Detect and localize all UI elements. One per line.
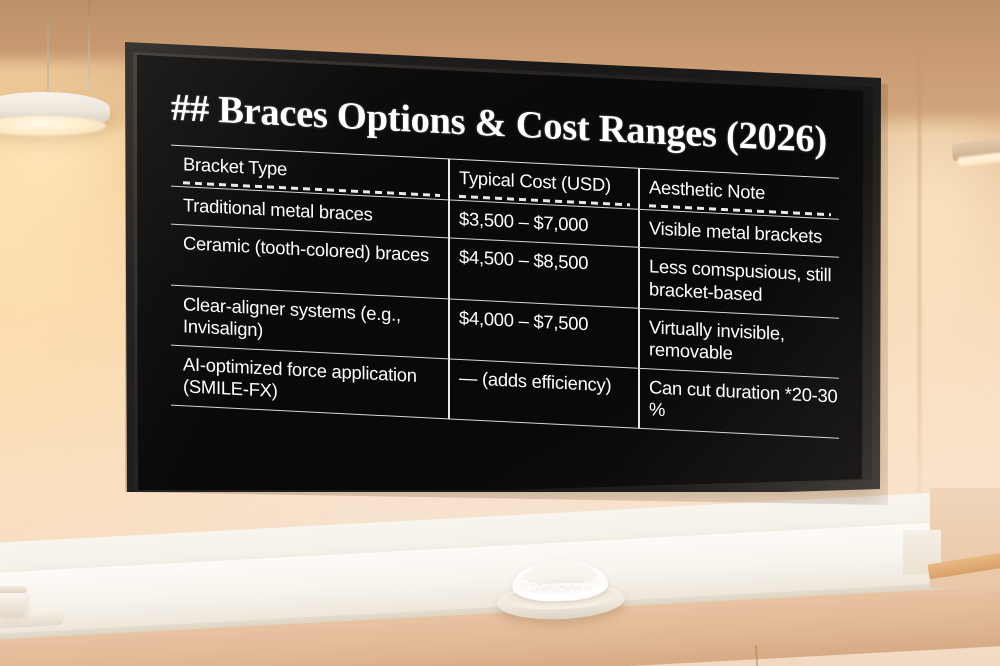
cell-typical-cost: $4,000 – $7,500 bbox=[449, 299, 639, 369]
small-jar bbox=[0, 590, 26, 614]
braces-options-table: Bracket Type Typical Cost (USD) Aestheti… bbox=[171, 145, 839, 439]
small-jar-lid bbox=[0, 586, 27, 593]
table-body: Traditional metal braces $3,500 – $7,000… bbox=[171, 187, 839, 439]
wall-seam bbox=[918, 0, 921, 545]
cell-bracket-type: AI-optimized force application (SMILE-FX… bbox=[171, 345, 449, 419]
pendant-cord-icon bbox=[88, 0, 90, 92]
column-header-label: Aesthetic Note bbox=[649, 177, 839, 208]
column-header-label: Typical Cost (USD) bbox=[459, 167, 638, 198]
cell-typical-cost: — (adds efficiency) bbox=[449, 359, 639, 429]
display-screen[interactable]: ## Braces Options & Cost Ranges (2026) B… bbox=[137, 49, 863, 490]
clear-aligner bbox=[511, 559, 608, 602]
cell-aesthetic-note: Less comspusious, still bracket-based bbox=[639, 248, 839, 318]
pendant-cord-icon bbox=[47, 0, 49, 96]
slide-content: ## Braces Options & Cost Ranges (2026) B… bbox=[171, 89, 839, 439]
display-screen-surface: ## Braces Options & Cost Ranges (2026) B… bbox=[137, 49, 863, 490]
room-scene: ## Braces Options & Cost Ranges (2026) B… bbox=[0, 0, 1000, 666]
cell-typical-cost: $4,500 – $8,500 bbox=[449, 238, 639, 308]
cell-aesthetic-note: Virtually invisible, removable bbox=[639, 308, 839, 378]
cell-aesthetic-note: Can cut duration *20-30 % bbox=[639, 368, 839, 438]
